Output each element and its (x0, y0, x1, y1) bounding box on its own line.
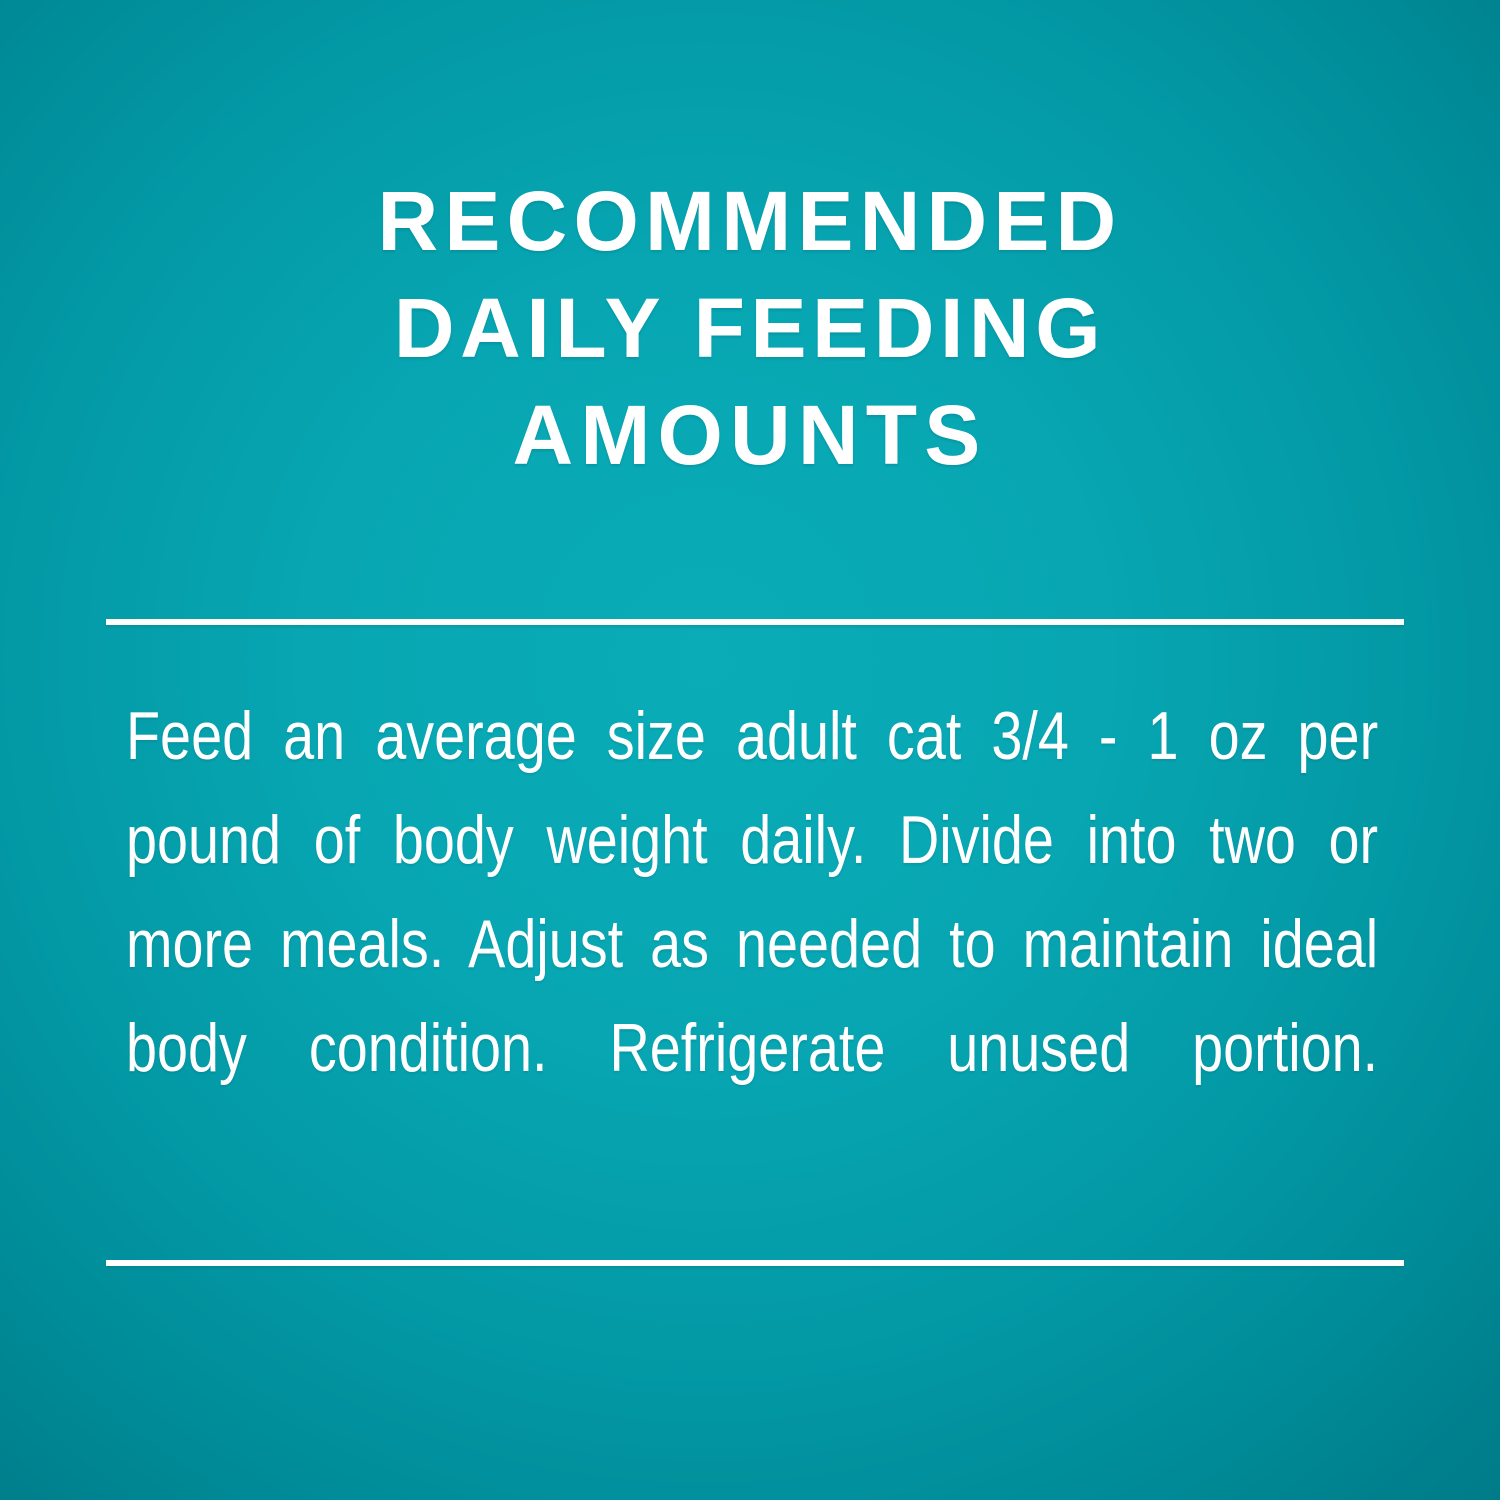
feeding-instructions-text: Feed an average size adult cat 3/4 - 1 o… (126, 684, 1378, 1204)
heading-line-2: DAILY FEEDING (0, 275, 1500, 382)
top-divider (106, 619, 1404, 625)
heading-line-1: RECOMMENDED (0, 168, 1500, 275)
heading-line-3: AMOUNTS (0, 382, 1500, 489)
page-title: RECOMMENDED DAILY FEEDING AMOUNTS (0, 168, 1500, 489)
feeding-instructions-panel: RECOMMENDED DAILY FEEDING AMOUNTS Feed a… (0, 0, 1500, 1500)
feeding-instructions-body: Feed an average size adult cat 3/4 - 1 o… (126, 684, 1378, 1204)
bottom-divider (106, 1260, 1404, 1266)
